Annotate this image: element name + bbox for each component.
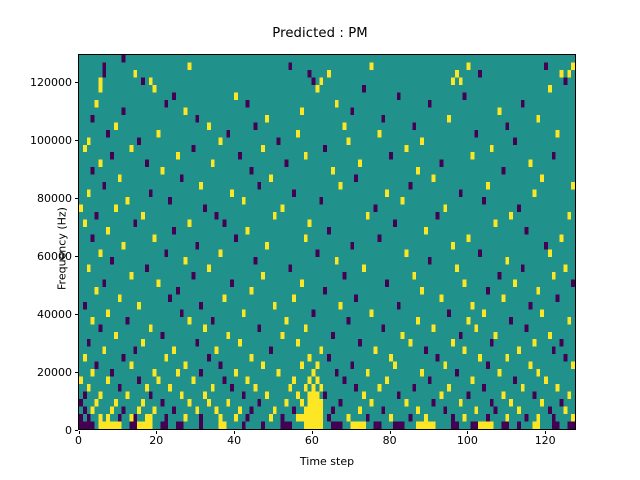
x-tick-label-40: 40 xyxy=(204,434,264,447)
x-tick-label-100: 100 xyxy=(437,434,497,447)
y-tick-label-60000: 60000 xyxy=(8,250,72,263)
y-tick-label-80000: 80000 xyxy=(8,192,72,205)
figure-canvas: Predicted : PM Frequency (Hz) 0 20000 40… xyxy=(0,0,640,480)
y-tick-label-20000: 20000 xyxy=(8,366,72,379)
page-title: Predicted : PM xyxy=(0,26,640,41)
x-tick-label-120: 120 xyxy=(515,434,575,447)
x-tick-label-80: 80 xyxy=(360,434,420,447)
x-tick-label-0: 0 xyxy=(49,434,109,447)
x-axis-label: Time step xyxy=(78,455,576,468)
x-tick-label-60: 60 xyxy=(282,434,342,447)
heatmap-image xyxy=(79,55,575,429)
y-tick-label-40000: 40000 xyxy=(8,308,72,321)
y-tick-label-100000: 100000 xyxy=(8,134,72,147)
heatmap-plot-area[interactable] xyxy=(78,54,576,430)
y-tick-label-120000: 120000 xyxy=(8,76,72,89)
x-tick-label-20: 20 xyxy=(126,434,186,447)
